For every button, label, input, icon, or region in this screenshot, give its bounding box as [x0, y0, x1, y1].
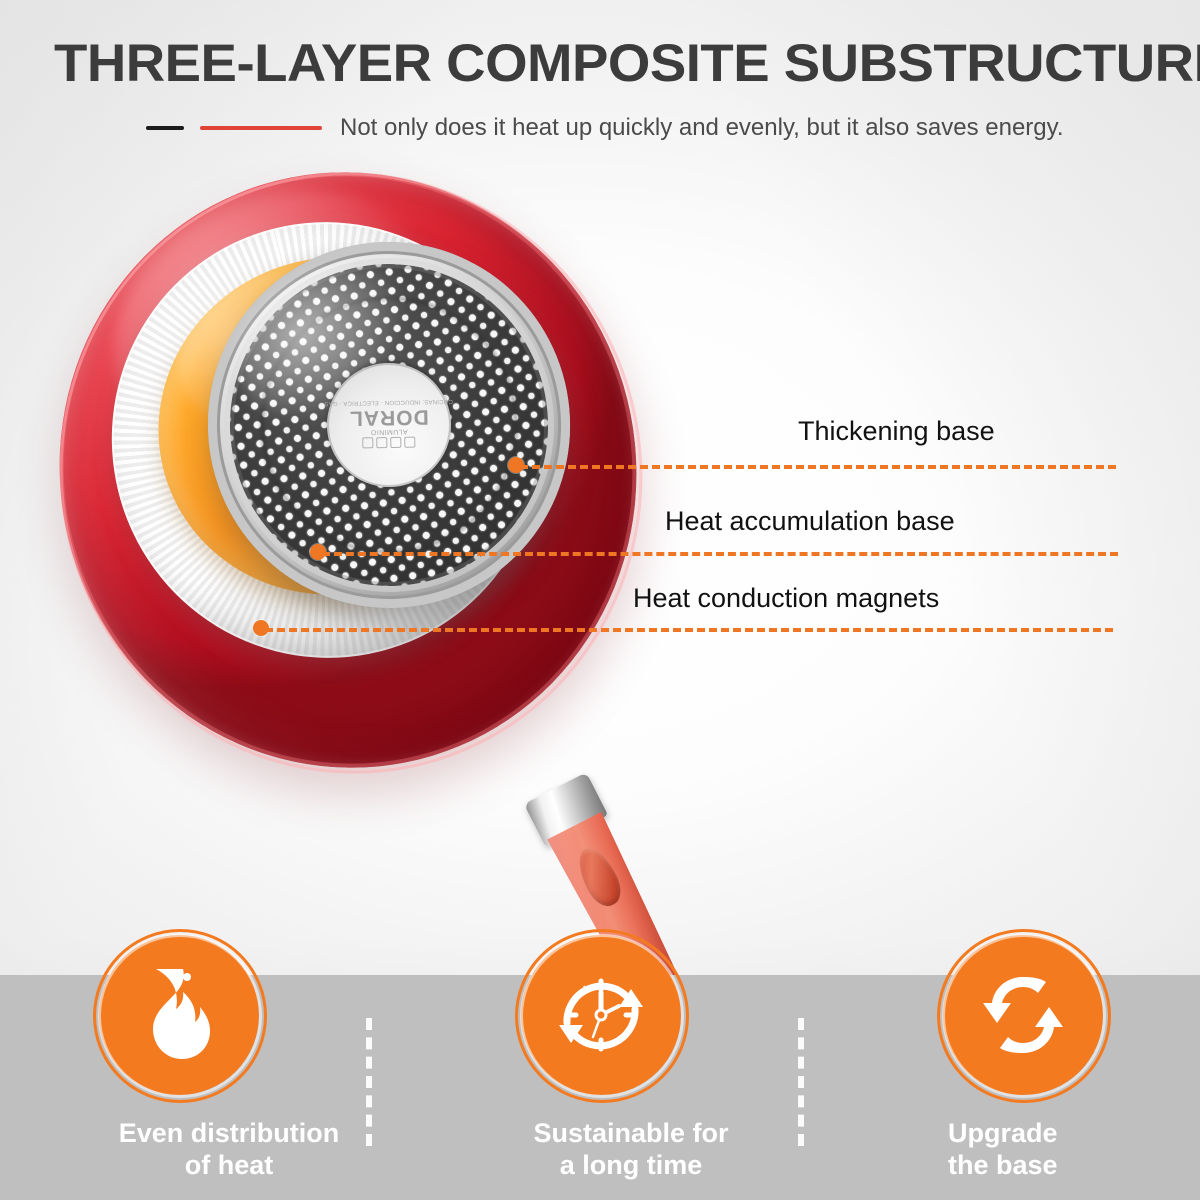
feature-divider-2 [798, 1018, 804, 1146]
callout-label-1: Thickening base [798, 416, 995, 447]
callout-line-2 [322, 552, 1118, 556]
feature-label-upgrade-base: Upgrade the base [948, 1118, 1188, 1182]
clock-icon [526, 940, 676, 1090]
pan-rim [8, 122, 694, 824]
flame-icon [104, 940, 254, 1090]
feature-sustainable: Sustainable for a long time [526, 940, 886, 1182]
page-title: THREE-LAYER COMPOSITE SUBSTRUCTURE [54, 36, 1187, 91]
feature-label-even-heat: Even distribution of heat [104, 1118, 354, 1182]
feature-upgrade-base: Upgrade the base [948, 940, 1200, 1182]
callout-label-3: Heat conduction magnets [633, 583, 939, 614]
refresh-icon [948, 940, 1098, 1090]
callout-label-2: Heat accumulation base [665, 506, 955, 537]
feature-divider-1 [366, 1018, 372, 1146]
callout-line-1 [520, 465, 1116, 469]
feature-label-sustainable: Sustainable for a long time [526, 1118, 736, 1182]
feature-even-heat: Even distribution of heat [104, 940, 464, 1182]
product-image: ALUMINIO DORAL COCINAS: INDUCCION · ELEC… [0, 130, 760, 960]
callout-line-3 [265, 628, 1113, 632]
product-infographic: THREE-LAYER COMPOSITE SUBSTRUCTURE Not o… [0, 0, 1200, 1200]
